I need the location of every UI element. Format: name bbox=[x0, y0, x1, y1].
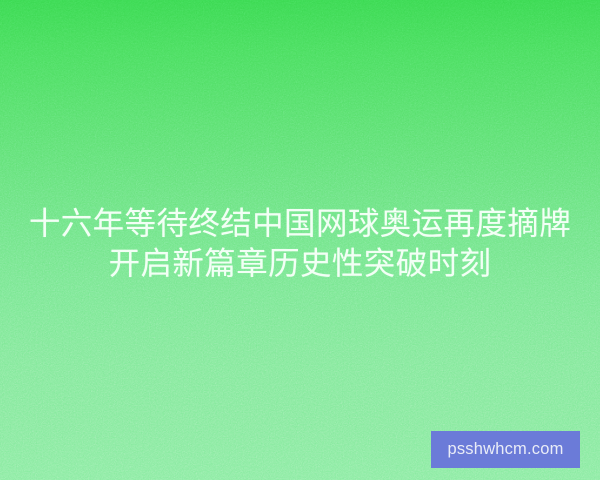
watermark-badge: psshwhcm.com bbox=[431, 431, 580, 468]
watermark-site-label: psshwhcm.com bbox=[447, 441, 563, 458]
image-canvas: 十六年等待终结中国网球奥运再度摘牌开启新篇章历史性突破时刻 psshwhcm.c… bbox=[0, 0, 600, 480]
headline-title: 十六年等待终结中国网球奥运再度摘牌开启新篇章历史性突破时刻 bbox=[0, 203, 600, 283]
